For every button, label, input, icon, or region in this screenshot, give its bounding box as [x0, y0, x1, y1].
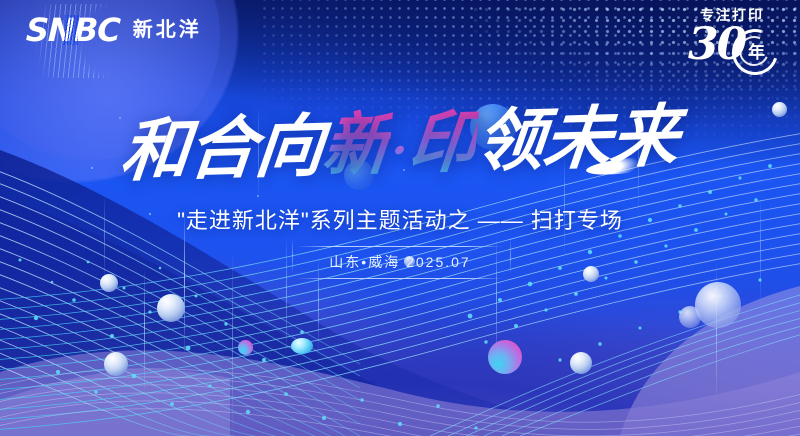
snbc-logo-icon: SNBC	[25, 14, 120, 46]
gradient-sphere-decor	[488, 340, 522, 374]
gradient-sphere-decor	[679, 306, 701, 328]
subtitle: "走进新北洋"系列主题活动之 —— 扫打专场	[0, 203, 800, 235]
anniversary-number-row: 30 年	[680, 25, 784, 75]
event-location-date: 山东•威海 2025.07	[329, 252, 470, 272]
poster-banner: SNBC 新北洋 专注打印 30 年 和合向新·印领未来 "走进新北洋"系列主题…	[0, 0, 800, 436]
meta-divider-tick	[292, 238, 293, 274]
main-title: 和合向新·印领未来	[0, 96, 800, 192]
meta-divider-tick	[510, 238, 511, 274]
header: SNBC 新北洋 专注打印 30 年	[0, 0, 800, 72]
title-segment-2: 向	[252, 106, 327, 188]
event-meta: 山东•威海 2025.07	[0, 248, 800, 276]
title-segment-4: 印	[406, 102, 481, 184]
gradient-sphere-decor	[157, 294, 185, 322]
meta-rule-top	[297, 246, 502, 247]
title-segment-1: 和合	[118, 108, 260, 192]
gradient-sphere-decor	[291, 338, 313, 354]
anniversary-unit: 年	[748, 44, 765, 61]
vertical-light-beam	[232, 250, 233, 436]
event-meta-inner: 山东•威海 2025.07	[303, 248, 496, 276]
brand-name-cn: 新北洋	[133, 20, 202, 40]
gradient-sphere-decor	[695, 282, 741, 328]
gradient-sphere-decor	[238, 340, 253, 355]
title-segment-3: 新	[319, 104, 394, 186]
meta-rule-bottom	[297, 278, 502, 279]
gradient-sphere-decor	[100, 274, 118, 292]
vertical-light-beam	[144, 268, 145, 396]
gradient-sphere-decor	[104, 352, 128, 376]
gradient-sphere-decor	[570, 352, 592, 374]
anniversary-badge: 专注打印 30 年	[680, 8, 784, 82]
brand-logo[interactable]: SNBC 新北洋	[26, 14, 202, 46]
logo-stripe-decor	[63, 15, 78, 45]
